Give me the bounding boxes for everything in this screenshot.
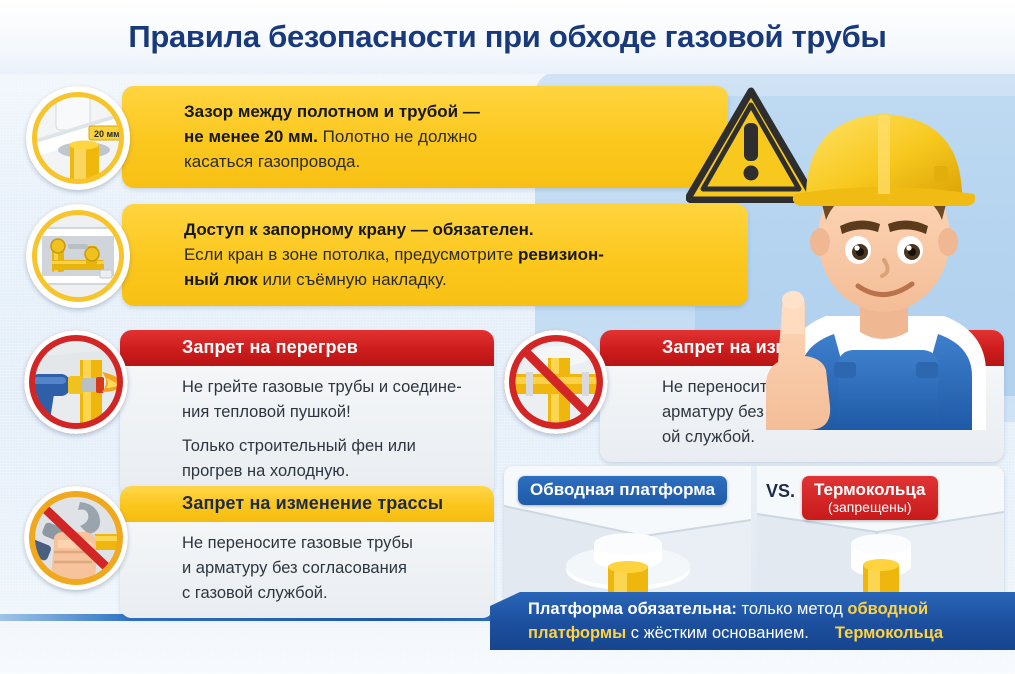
worker-illustration	[748, 70, 1015, 430]
wrench-prohibited-icon	[24, 486, 128, 590]
callout-route-alt-body: Не переносите газовые трубы и арматуру б…	[120, 522, 494, 618]
callout-gap-line-3: касаться газопровода.	[184, 149, 708, 174]
callout-route-alt-header: Запрет на изменение трассы	[120, 486, 494, 522]
callout-heat-line-2: ния тепловой пушкой!	[182, 400, 476, 425]
callout-route-alt-panel: Запрет на изменение трассы Не переносите…	[120, 486, 494, 618]
callout-heat-line-4: прогрев на холодную.	[182, 459, 476, 484]
callout-valve-line-1: Доступ к запорному крану — обязателен.	[184, 217, 728, 242]
bottom-summary-bar: Платформа обязательна: только метод обво…	[490, 592, 1015, 650]
bottom-part-4: платформы	[528, 624, 626, 642]
vs-divider-label: VS.	[766, 481, 795, 502]
bottom-part-1: Платформа обязательна:	[528, 600, 737, 618]
title-bar: Правила безопасности при обходе газовой …	[0, 0, 1015, 74]
callout-heat-header: Запрет на перегрев	[120, 330, 494, 366]
callout-gap-line-2: не менее 20 мм. Полотно не должно	[184, 124, 708, 149]
bottom-part-2: только метод	[737, 600, 848, 618]
label-bypass-platform: Обводная платформа	[518, 476, 727, 505]
callout-valve-line-2: Если кран в зоне потолка, предусмотрите …	[184, 242, 728, 267]
label-thermal-rings-sub: (запрещены)	[814, 499, 926, 515]
measure-caption: 20 мм	[94, 129, 120, 139]
callout-heat-line-3: Только строительный фен или	[182, 434, 476, 459]
heat-gun-prohibited-icon	[24, 330, 128, 434]
callout-route-alt-line-1: Не переносите газовые трубы	[182, 531, 476, 556]
pipe-gap-measure-icon: 20 мм	[26, 86, 130, 190]
callout-gap-line-1: Зазор между полотном и трубой —	[184, 99, 708, 124]
callout-gap-panel: Зазор между полотном и трубой — не менее…	[122, 86, 728, 188]
label-thermal-rings: Термокольца (запрещены)	[802, 476, 938, 520]
callout-heat-line-1: Не грейте газовые трубы и соедине-	[182, 375, 476, 400]
page-title: Правила безопасности при обходе газовой …	[128, 19, 886, 55]
label-thermal-rings-text: Термокольца	[814, 480, 926, 499]
callout-valve-line-3: ный люк или съёмную накладку.	[184, 267, 728, 292]
access-hatch-valve-icon	[26, 204, 130, 308]
callout-route-alt-line-3: с газовой службой.	[182, 581, 476, 606]
bottom-part-5: с жёстким основанием.	[626, 624, 809, 642]
bottom-part-3: обводной	[847, 600, 928, 618]
callout-valve-panel: Доступ к запорному крану — обязателен. Е…	[122, 204, 748, 306]
callout-heat-panel: Запрет на перегрев Не грейте газовые тру…	[120, 330, 494, 496]
callout-route-alt-line-2: и арматуру без согласования	[182, 556, 476, 581]
pipe-route-prohibited-icon	[504, 330, 608, 434]
callout-heat-body: Не грейте газовые трубы и соедине- ния т…	[120, 366, 494, 496]
bottom-part-6: Термокольца	[835, 624, 943, 642]
bottom-summary-text: Платформа обязательна: только метод обво…	[490, 597, 957, 645]
infographic-poster: Правила безопасности при обходе газовой …	[0, 0, 1015, 674]
